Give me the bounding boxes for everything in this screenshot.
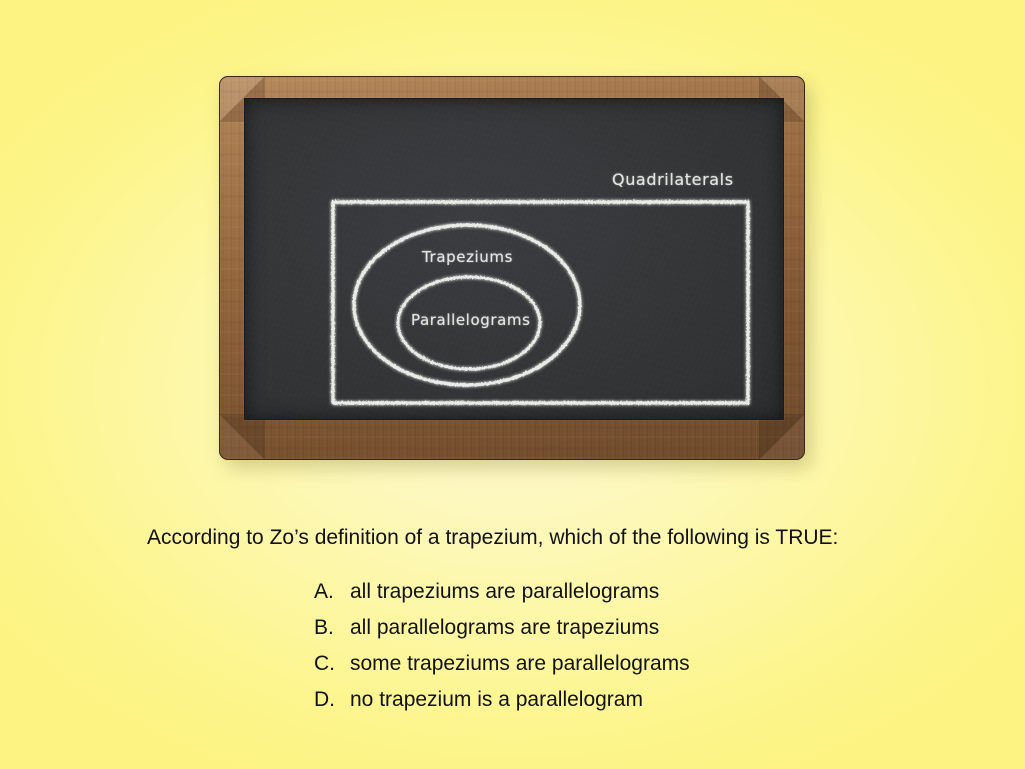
option-label: some trapeziums are parallelograms [350, 652, 690, 676]
answer-option-b[interactable]: B. all parallelograms are trapeziums [314, 616, 690, 652]
option-marker: A. [314, 580, 350, 604]
chalk-diagram [245, 99, 783, 419]
chalk-label-quadrilaterals: Quadrilaterals [612, 170, 734, 189]
slide-canvas: Quadrilaterals Trapeziums Parallelograms… [0, 0, 1025, 769]
chalk-label-trapeziums: Trapeziums [422, 248, 513, 266]
option-label: no trapezium is a parallelogram [350, 688, 643, 712]
chalkboard-surface: Quadrilaterals Trapeziums Parallelograms [244, 98, 784, 420]
answer-option-d[interactable]: D. no trapezium is a parallelogram [314, 688, 690, 724]
chalkboard-wooden-frame: Quadrilaterals Trapeziums Parallelograms [219, 76, 805, 460]
option-marker: D. [314, 688, 350, 712]
quadrilaterals-set-rectangle [333, 202, 748, 403]
answer-option-a[interactable]: A. all trapeziums are parallelograms [314, 580, 690, 616]
chalkboard: Quadrilaterals Trapeziums Parallelograms [219, 76, 805, 460]
option-marker: B. [314, 616, 350, 640]
answer-option-c[interactable]: C. some trapeziums are parallelograms [314, 652, 690, 688]
frame-miter-bottom-left [219, 414, 265, 460]
option-marker: C. [314, 652, 350, 676]
option-label: all parallelograms are trapeziums [350, 616, 659, 640]
question-text: According to Zo’s definition of a trapez… [147, 524, 838, 551]
frame-miter-bottom-right [759, 414, 805, 460]
chalk-label-parallelograms: Parallelograms [411, 311, 531, 329]
answer-options-list: A. all trapeziums are parallelograms B. … [314, 580, 690, 724]
option-label: all trapeziums are parallelograms [350, 580, 659, 604]
